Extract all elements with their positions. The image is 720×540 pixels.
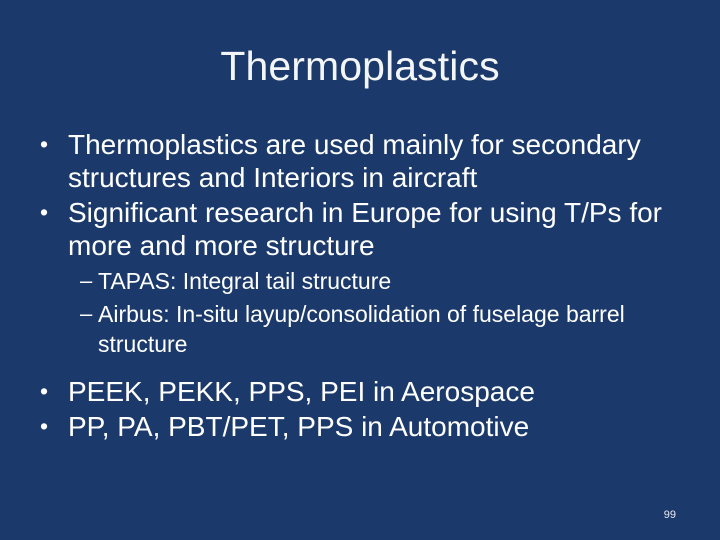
page-number: 99: [664, 508, 676, 522]
spacer: [36, 365, 720, 375]
dash-marker-icon: –: [80, 299, 98, 329]
presentation-slide: Thermoplastics • Thermoplastics are used…: [0, 0, 720, 540]
slide-title: Thermoplastics: [0, 42, 720, 90]
dash-marker-icon: –: [80, 266, 98, 296]
slide-body: • Thermoplastics are used mainly for sec…: [36, 128, 720, 445]
bullet-text: PEEK, PEKK, PPS, PEI in Aerospace: [68, 375, 720, 408]
bullet-marker-icon: •: [36, 128, 68, 161]
bullet-text: Thermoplastics are used mainly for secon…: [68, 128, 720, 194]
bullet-item: • Significant research in Europe for usi…: [36, 196, 720, 262]
bullet-marker-icon: •: [36, 375, 68, 408]
sub-bullet-text: Airbus: In-situ layup/consolidation of f…: [98, 299, 720, 359]
sub-bullet-item: – Airbus: In-situ layup/consolidation of…: [36, 299, 720, 359]
bullet-marker-icon: •: [36, 196, 68, 229]
bullet-text: Significant research in Europe for using…: [68, 196, 720, 262]
bullet-item: • Thermoplastics are used mainly for sec…: [36, 128, 720, 194]
sub-bullet-group: – TAPAS: Integral tail structure – Airbu…: [36, 266, 720, 359]
bullet-item: • PEEK, PEKK, PPS, PEI in Aerospace: [36, 375, 720, 408]
bullet-item: • PP, PA, PBT/PET, PPS in Automotive: [36, 410, 720, 443]
bullet-text: PP, PA, PBT/PET, PPS in Automotive: [68, 410, 720, 443]
bullet-marker-icon: •: [36, 410, 68, 443]
sub-bullet-text: TAPAS: Integral tail structure: [98, 266, 720, 296]
sub-bullet-item: – TAPAS: Integral tail structure: [36, 266, 720, 296]
